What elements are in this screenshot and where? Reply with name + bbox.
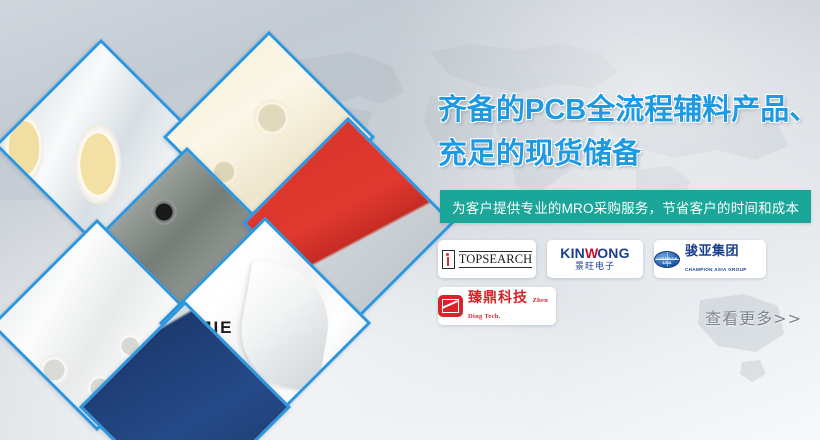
partner-logo-zhen-ding[interactable]: 臻鼎科技 Zhen Ding Tech. (438, 287, 556, 325)
partner-logo-row-1: TOPSEARCH KINWONG 景旺电子 CHAMPION ASIA (438, 240, 820, 278)
topsearch-mark-icon (442, 250, 455, 269)
topsearch-wordmark: TOPSEARCH (459, 251, 533, 268)
view-more-link[interactable]: 查看更多>> (705, 305, 802, 329)
globe-icon: CHAMPION ASIA (654, 251, 680, 268)
partner-logo-topsearch[interactable]: TOPSEARCH (438, 240, 536, 278)
kinwong-en-part1: KIN (560, 245, 585, 261)
hero-banner: JIE 齐备的PCB全流程辅料产品、 充足的现货储备 为客户提供专业的MRO采购… (0, 0, 820, 440)
headline-line-2: 充足的现货储备 (438, 132, 820, 176)
partner-logo-kinwong[interactable]: KINWONG 景旺电子 (547, 240, 643, 278)
zhen-ding-mark-icon (438, 295, 463, 317)
partner-logo-champion-asia[interactable]: CHAMPION ASIA 骏亚集团 CHAMPION ASIA GROUP (654, 240, 766, 278)
headline-line-1: 齐备的PCB全流程辅料产品、 (438, 94, 818, 126)
champion-asia-en-name: CHAMPION ASIA GROUP (685, 267, 747, 272)
banner-subtitle-bar: 为客户提供专业的MRO采购服务，节省客户的时间和成本 (440, 190, 811, 223)
globe-label: CHAMPION ASIA (655, 257, 679, 265)
kinwong-en-part2: W (585, 245, 597, 261)
banner-headline: 齐备的PCB全流程辅料产品、 充足的现货储备 (438, 88, 820, 176)
kinwong-wordmark: KINWONG (560, 246, 629, 260)
banner-content: 齐备的PCB全流程辅料产品、 充足的现货储备 为客户提供专业的MRO采购服务，节… (430, 0, 820, 440)
champion-asia-cn-name: 骏亚集团 (685, 244, 739, 259)
kinwong-cn-name: 景旺电子 (560, 263, 629, 272)
zhen-ding-cn-name: 臻鼎科技 (468, 290, 528, 306)
banner-subtitle-text: 为客户提供专业的MRO采购服务，节省客户的时间和成本 (452, 197, 799, 217)
kinwong-en-part3: ONG (597, 245, 630, 261)
product-collage: JIE (0, 0, 430, 440)
